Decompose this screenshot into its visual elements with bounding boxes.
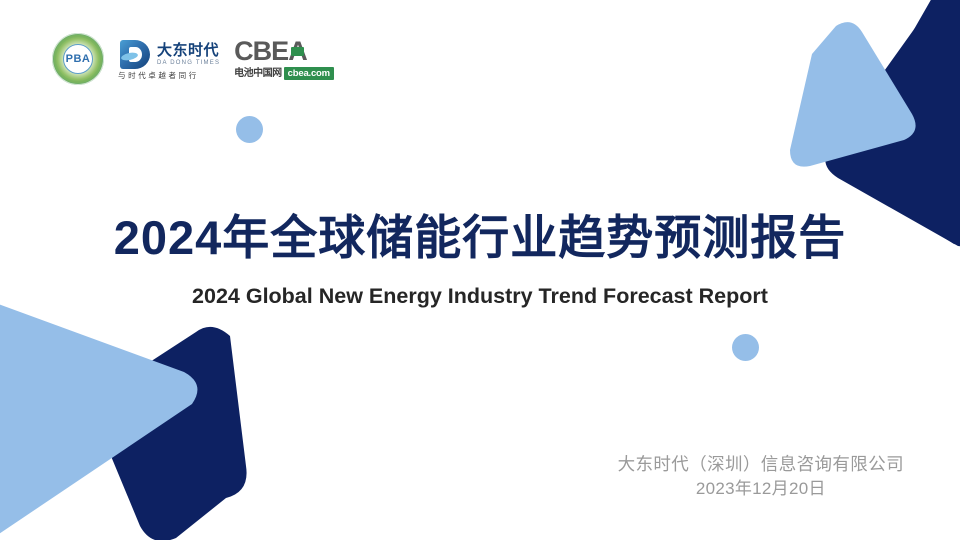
light-blue-dot-mid-right	[732, 334, 759, 361]
cbea-subtitle-cn: 电池中国网	[234, 67, 282, 80]
cbea-wordmark: CBE A	[234, 38, 334, 65]
da-dong-times-text-group: 大东时代 DA DONG TIMES	[157, 42, 220, 67]
da-dong-times-logo-main: 大东时代 DA DONG TIMES	[118, 39, 220, 70]
footer-date: 2023年12月20日	[618, 477, 904, 502]
light-blue-dot-upper-left	[236, 116, 263, 143]
pba-logo: PBA	[52, 33, 104, 85]
footer-organization: 大东时代（深圳）信息咨询有限公司	[618, 452, 904, 477]
cbea-logo: CBE A 电池中国网 cbea.com	[234, 38, 334, 80]
da-dong-times-logo: 大东时代 DA DONG TIMES 与时代卓越者同行	[118, 39, 220, 80]
page-subtitle-english: 2024 Global New Energy Industry Trend Fo…	[0, 284, 960, 310]
logo-bar: PBA 大东时代 DA DONG TIMES 与时代卓越者同行 CBE	[52, 33, 334, 85]
cbea-subtitle-row: 电池中国网 cbea.com	[234, 67, 334, 80]
battery-icon	[291, 47, 304, 56]
page-title-chinese: 2024年全球储能行业趋势预测报告	[0, 211, 960, 265]
footer-block: 大东时代（深圳）信息咨询有限公司 2023年12月20日	[618, 452, 904, 502]
title-slide: PBA 大东时代 DA DONG TIMES 与时代卓越者同行 CBE	[0, 0, 960, 540]
bottom-left-light-triangle	[0, 271, 197, 540]
cbea-website-badge: cbea.com	[284, 67, 334, 80]
da-dong-times-tagline: 与时代卓越者同行	[118, 71, 220, 80]
top-right-light-triangle	[790, 22, 916, 167]
bottom-left-navy-triangle	[94, 327, 247, 540]
cbea-letters-cbe: CBE	[234, 38, 288, 65]
da-dong-d-mark-icon	[118, 39, 152, 70]
da-dong-times-en: DA DONG TIMES	[157, 60, 220, 67]
cbea-letter-a: A	[288, 38, 307, 65]
top-right-navy-triangle-body	[825, 0, 960, 247]
da-dong-times-cn: 大东时代	[157, 42, 219, 59]
pba-logo-text: PBA	[66, 53, 91, 65]
top-right-navy-triangle	[840, 0, 960, 245]
